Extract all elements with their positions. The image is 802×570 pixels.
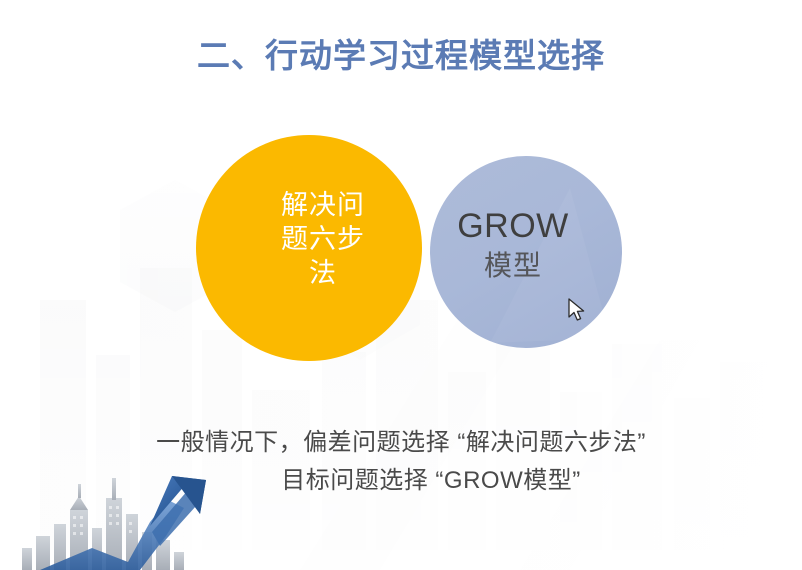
page-title: 二、行动学习过程模型选择 bbox=[0, 33, 802, 79]
presentation-slide: 二、行动学习过程模型选择 bbox=[0, 0, 802, 570]
venn-diagram: 解决问 题六步 法 GROW 模型 bbox=[190, 128, 630, 373]
caption-line-1: 一般情况下，偏差问题选择 “解决问题六步法” bbox=[0, 424, 802, 462]
caption-line-2: 目标问题选择 “GROW模型” bbox=[0, 462, 802, 500]
caption-block: 一般情况下，偏差问题选择 “解决问题六步法” 目标问题选择 “GROW模型” bbox=[0, 424, 802, 500]
venn-circle-left bbox=[196, 135, 422, 361]
